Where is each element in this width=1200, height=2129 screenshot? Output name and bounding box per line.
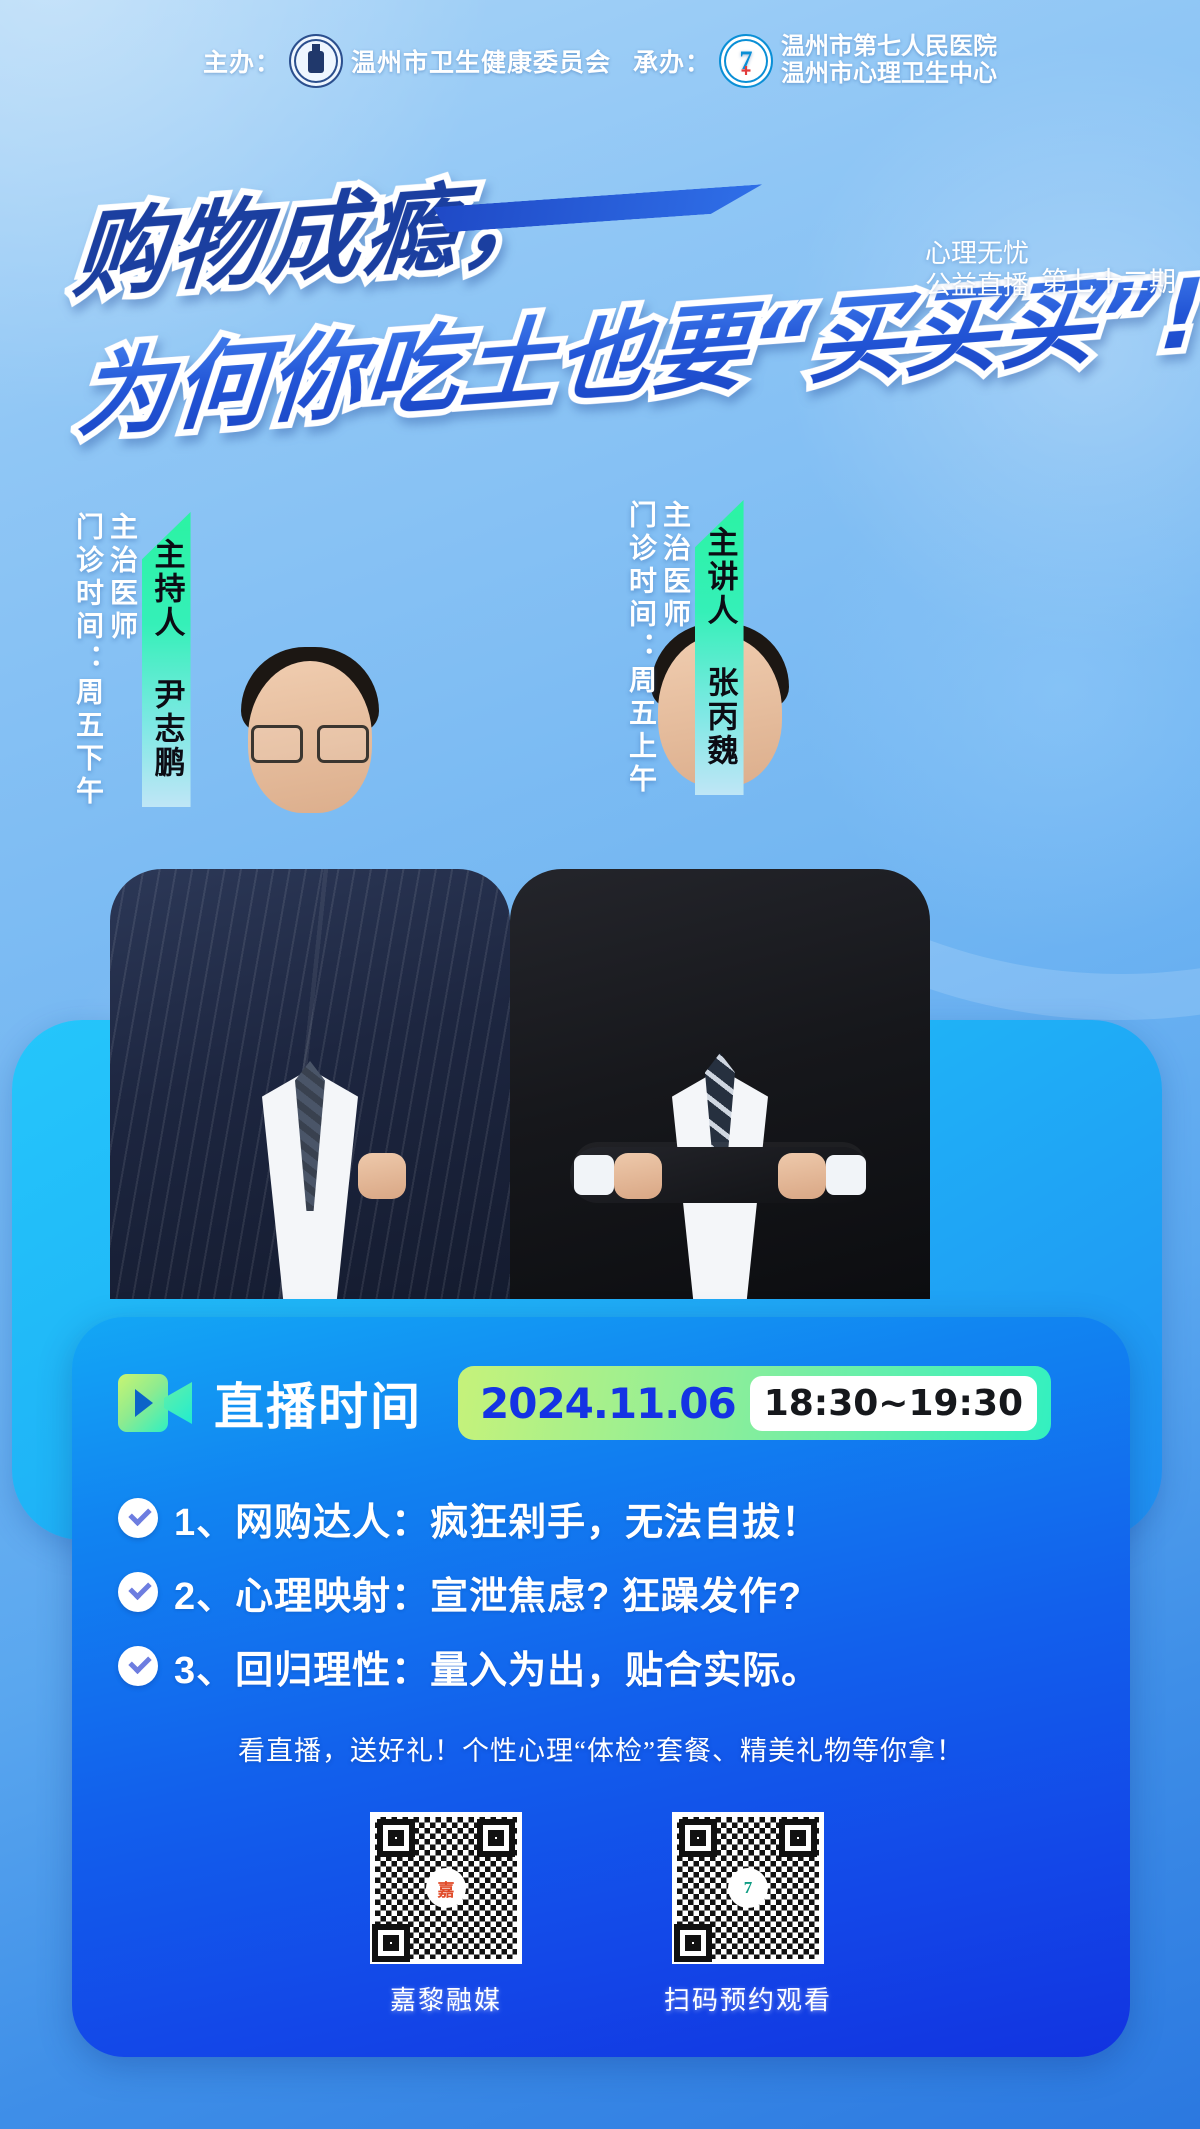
host-doctor-title: 主治医师 (108, 512, 136, 644)
poster-title: 购物成瘾， 为何你吃土也要“买买买”! 为何你吃土也要“买买买”! (74, 150, 894, 426)
qr-code-item[interactable]: 嘉 嘉黎融媒 (370, 1812, 522, 2017)
livestream-hours: 18:30~19:30 (750, 1376, 1037, 1431)
wenzhou-health-commission-seal-icon (289, 34, 343, 88)
livestream-time-label: 直播时间 (214, 1367, 422, 1439)
topic-list: 1、网购达人：疯狂剁手，无法自拔！ 2、心理映射：宣泄焦虑? 狂躁发作? 3、回… (118, 1481, 1084, 1703)
livestream-time-row: 直播时间 2024.11.06 18:30~19:30 (118, 1359, 1084, 1447)
coorganizer-label: 承办： (633, 43, 711, 79)
livestream-date-pill: 2024.11.06 18:30~19:30 (458, 1366, 1051, 1440)
series-name-line1: 心理无忧 (925, 238, 1029, 270)
series-name: 心理无忧 公益直播 (925, 238, 1029, 301)
qr-code-item[interactable]: 7 扫码预约观看 (664, 1812, 832, 2017)
list-item: 2、心理映射：宣泄焦虑? 狂躁发作? (118, 1555, 1084, 1629)
host-role-name: 主持人 尹志鹏 (150, 538, 183, 780)
coorganizer-name: 温州市第七人民医院 温州市心理卫生中心 (781, 34, 997, 88)
topic-text: 3、回归理性：量入为出，贴合实际。 (174, 1639, 820, 1694)
livestream-info-card: 直播时间 2024.11.06 18:30~19:30 1、网购达人：疯狂剁手，… (72, 1317, 1130, 2057)
check-circle-icon (118, 1498, 158, 1538)
hand (778, 1153, 826, 1199)
hand (358, 1153, 406, 1199)
organizer-name: 温州市卫生健康委员会 (351, 43, 611, 79)
qr-code-icon[interactable]: 7 (672, 1812, 824, 1964)
video-camera-icon (118, 1374, 192, 1432)
qr-code-row: 嘉 嘉黎融媒 7 扫码预约观看 (118, 1812, 1084, 2017)
topic-text: 1、网购达人：疯狂剁手，无法自拔！ (174, 1491, 820, 1546)
poster-canvas: 主办： 温州市卫生健康委员会 承办： 温州市第七人民医院 温州市心理卫生中心 购… (0, 0, 1200, 2129)
host-credentials: 门诊时间：周五下午 主治医师 主持人 尹志鹏 (74, 512, 191, 809)
qr-code-icon[interactable]: 嘉 (370, 1812, 522, 1964)
qr-center-logo: 嘉 (426, 1868, 466, 1908)
topic-text: 2、心理映射：宣泄焦虑? 狂躁发作? (174, 1565, 802, 1620)
check-circle-icon (118, 1646, 158, 1686)
host-name-banner: 主持人 尹志鹏 (142, 512, 191, 807)
coorganizer-name-line1: 温州市第七人民医院 (781, 34, 997, 61)
hand (614, 1153, 662, 1199)
list-item: 3、回归理性：量入为出，贴合实际。 (118, 1629, 1084, 1703)
wenzhou-seventh-hospital-seal-icon (719, 34, 773, 88)
episode-badge: 心理无忧 公益直播 第七十二期 (925, 238, 1176, 301)
host-clinic-hours: 门诊时间：周五下午 (74, 512, 102, 809)
qr-caption: 扫码预约观看 (664, 1980, 832, 2017)
qr-caption: 嘉黎融媒 (390, 1980, 502, 2017)
shirt-cuff (826, 1155, 866, 1195)
glasses-icon (251, 725, 369, 759)
qr-center-logo: 7 (728, 1868, 768, 1908)
promo-text: 看直播，送好礼！个性心理“体检”套餐、精美礼物等你拿！ (118, 1729, 1084, 1768)
lecturer-doctor-title: 主治医师 (661, 500, 689, 632)
list-item: 1、网购达人：疯狂剁手，无法自拔！ (118, 1481, 1084, 1555)
lecturer-role-name: 主讲人 张丙魏 (703, 526, 736, 768)
shirt-cuff (574, 1155, 614, 1195)
series-name-line2: 公益直播 (925, 270, 1029, 302)
lecturer-clinic-hours: 门诊时间：周五上午 (627, 500, 655, 797)
episode-number: 第七十二期 (1041, 260, 1176, 301)
lecturer-credentials: 门诊时间：周五上午 主治医师 主讲人 张丙魏 (627, 500, 744, 797)
check-circle-icon (118, 1572, 158, 1612)
livestream-date: 2024.11.06 (480, 1379, 736, 1428)
sponsor-header: 主办： 温州市卫生健康委员会 承办： 温州市第七人民医院 温州市心理卫生中心 (0, 30, 1200, 92)
organizer-label: 主办： (203, 43, 281, 79)
coorganizer-name-line2: 温州市心理卫生中心 (781, 61, 997, 88)
lecturer-name-banner: 主讲人 张丙魏 (695, 500, 744, 795)
